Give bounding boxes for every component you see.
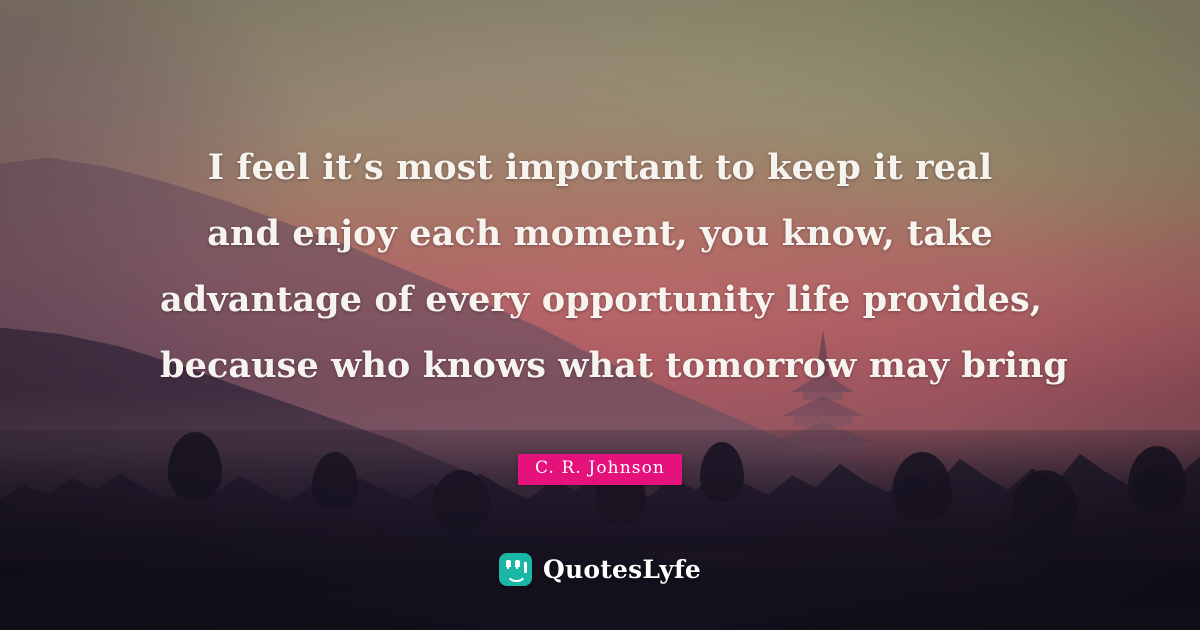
quote-smiley-icon <box>499 553 532 586</box>
quote-card: I feel it’s most important to keep it re… <box>0 0 1200 630</box>
author-badge: C. R. Johnson <box>518 454 682 485</box>
quote-mark-left <box>506 560 511 567</box>
smile-tail <box>524 562 527 573</box>
quote-mark-right <box>515 560 520 567</box>
quote-text: I feel it’s most important to keep it re… <box>160 135 1040 399</box>
quote-line: advantage of every opportunity life prov… <box>160 267 1040 333</box>
brand-wordmark: QuotesLyfe <box>543 555 701 584</box>
card-content: I feel it’s most important to keep it re… <box>0 0 1200 630</box>
quote-line: and enjoy each moment, you know, take <box>160 201 1040 267</box>
quote-line: I feel it’s most important to keep it re… <box>160 135 1040 201</box>
brand-logo: QuotesLyfe <box>0 553 1200 586</box>
quote-line: because who knows what tomorrow may brin… <box>160 333 1040 399</box>
